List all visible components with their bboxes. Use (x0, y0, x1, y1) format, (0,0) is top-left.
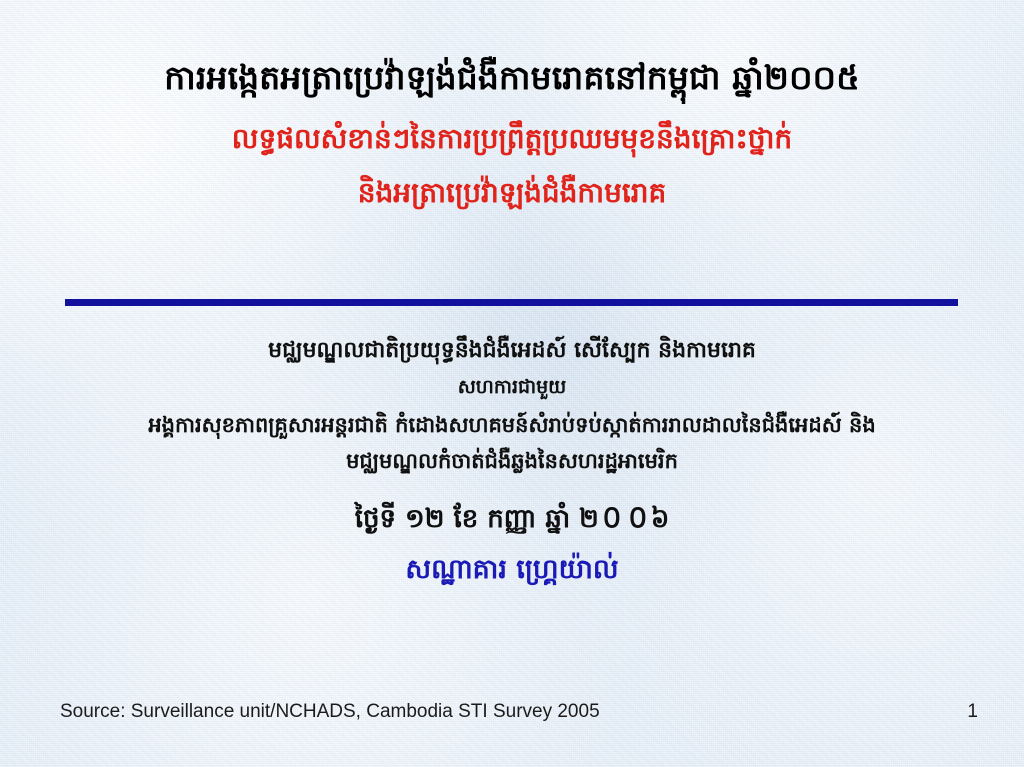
event-venue: សណ្ឋាគារ ហ្គ្រេយ៉ាល់ (0, 550, 1024, 590)
collaboration-label: សហការជាមួយ (0, 372, 1024, 402)
body-block: មជ្ឈមណ្ឌលជាតិប្រយុទ្ធនឹងជំងឺអេដស៍ សើស្បែ… (0, 334, 1024, 590)
subtitle-line-2: និងអត្រាប្រេវ៉ាឡង់ជំងឺកាមរោគ (0, 172, 1024, 214)
page-number: 1 (967, 701, 978, 723)
subtitle-line-1: លទ្ធផលសំខាន់ៗនៃការប្រព្រឹត្តប្រឈមមុខនឹងគ… (0, 118, 1024, 160)
organization-national: មជ្ឈមណ្ឌលជាតិប្រយុទ្ធនឹងជំងឺអេដស៍ សើស្បែ… (0, 334, 1024, 368)
presentation-slide: ការអង្កេតអត្រាប្រេវ៉ាឡង់ជំងឺកាមរោគនៅកម្ព… (0, 0, 1024, 767)
horizontal-divider (65, 299, 958, 306)
organization-partners-line-2: មជ្ឈមណ្ឌលកំចាត់ជំងឺឆ្លងនៃសហរដ្ឋអាមេរិក (0, 444, 1024, 478)
source-note: Source: Surveillance unit/NCHADS, Cambod… (60, 701, 600, 723)
page-title: ការអង្កេតអត្រាប្រេវ៉ាឡង់ជំងឺកាមរោគនៅកម្ព… (0, 56, 1024, 100)
event-date: ថ្ងៃទី ១២ ខែ កញ្ញា ឆ្នាំ ២００៦ (0, 500, 1024, 538)
organization-partners-line-1: អង្គការសុខភាពគ្រួសារអន្តរជាតិ កំដោងសហគមន… (0, 408, 1024, 442)
title-block: ការអង្កេតអត្រាប្រេវ៉ាឡង់ជំងឺកាមរោគនៅកម្ព… (0, 56, 1024, 214)
